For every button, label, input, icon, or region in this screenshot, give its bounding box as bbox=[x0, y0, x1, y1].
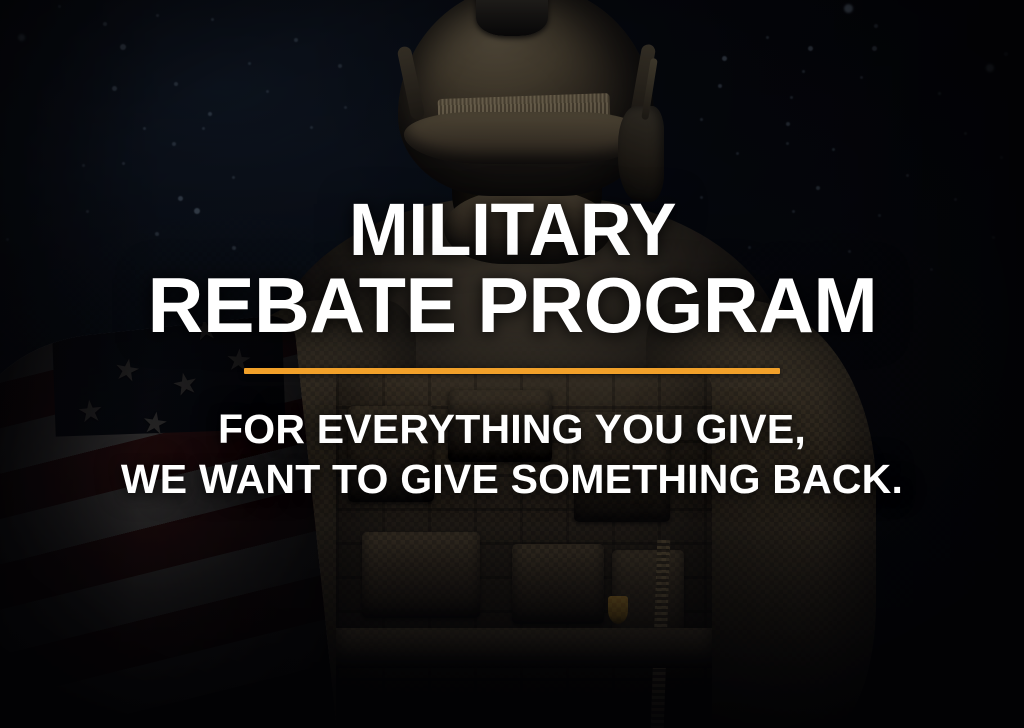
banner-content: MILITARY REBATE PROGRAM FOR EVERYTHING Y… bbox=[0, 0, 1024, 728]
headline-line-2: REBATE PROGRAM bbox=[147, 270, 877, 342]
page-title: MILITARY REBATE PROGRAM bbox=[144, 0, 881, 342]
headline-line-1: MILITARY bbox=[155, 196, 870, 264]
subheadline-line-1: FOR EVERYTHING YOU GIVE, bbox=[121, 404, 903, 454]
military-rebate-banner: ★★★★★★★★ MILITARY REBATE PROGRAM FOR EVE… bbox=[0, 0, 1024, 728]
subheadline: FOR EVERYTHING YOU GIVE, WE WANT TO GIVE… bbox=[121, 374, 903, 504]
subheadline-line-2: WE WANT TO GIVE SOMETHING BACK. bbox=[121, 454, 903, 504]
